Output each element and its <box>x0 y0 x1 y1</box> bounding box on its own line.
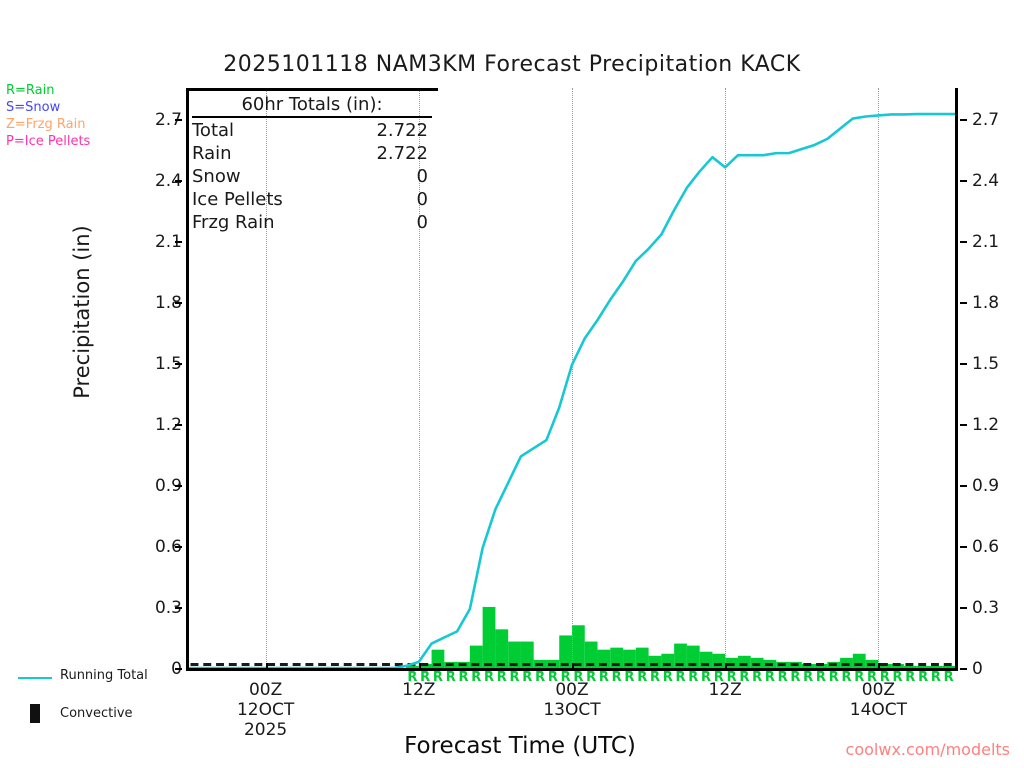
legend-running-total-label: Running Total <box>60 668 148 683</box>
totals-row: Snow0 <box>188 165 438 188</box>
totals-row-label: Ice Pellets <box>192 188 283 211</box>
x-tick-label: 12Z <box>665 680 785 700</box>
y-axis-left: 00.30.60.91.21.51.82.12.42.7 <box>130 88 182 671</box>
totals-row-value: 0 <box>417 165 434 188</box>
y-tick-label-right: 0.3 <box>972 598 1018 618</box>
x-tick-mark <box>725 663 727 671</box>
y-tick-mark-left <box>175 546 182 548</box>
x-tick-label-line: 00Z <box>818 680 938 700</box>
convective-bar-swatch <box>30 704 40 723</box>
y-tick-mark-right <box>960 302 967 304</box>
running-total-line-swatch <box>18 677 52 679</box>
totals-row: Frzg Rain0 <box>188 211 438 234</box>
y-axis-title: Precipitation (in) <box>70 197 94 427</box>
x-tick-label-line: 12OCT <box>206 700 326 720</box>
y-tick-label-right: 1.8 <box>972 293 1018 313</box>
x-axis-ticks <box>189 663 955 673</box>
totals-heading: 60hr Totals (in): <box>192 94 432 118</box>
x-tick-label: 00Z12OCT2025 <box>206 680 326 740</box>
y-tick-label-right: 2.1 <box>972 232 1018 252</box>
gridline <box>725 88 726 668</box>
hourly-precip-bar <box>483 607 496 668</box>
y-tick-mark-left <box>175 607 182 609</box>
totals-row-label: Rain <box>192 142 232 165</box>
totals-row: Rain2.722 <box>188 142 438 165</box>
x-tick-mark <box>266 663 268 671</box>
x-tick-label-line: 00Z <box>206 680 326 700</box>
x-tick-mark <box>419 663 421 671</box>
totals-rows: Total2.722Rain2.722Snow0Ice Pellets0Frzg… <box>188 119 438 234</box>
x-tick-mark <box>572 663 574 671</box>
y-tick-mark-right <box>960 607 967 609</box>
y-tick-mark-left <box>175 485 182 487</box>
gridline <box>878 88 879 668</box>
y-tick-mark-right <box>960 363 967 365</box>
x-tick-label-line: 13OCT <box>512 700 632 720</box>
y-tick-mark-right <box>960 424 967 426</box>
totals-row-label: Frzg Rain <box>192 211 275 234</box>
hourly-precip-bars <box>406 607 955 668</box>
y-tick-mark-left <box>175 424 182 426</box>
x-tick-label: 12Z <box>359 680 479 700</box>
x-tick-label: 00Z13OCT <box>512 680 632 720</box>
y-tick-label-right: 2.7 <box>972 110 1018 130</box>
totals-row-value: 2.722 <box>376 119 434 142</box>
y-tick-label-right: 1.2 <box>972 415 1018 435</box>
y-tick-mark-left <box>175 241 182 243</box>
x-tick-label-line: 12Z <box>665 680 785 700</box>
y-tick-label-right: 0.9 <box>972 476 1018 496</box>
page-title: 2025101118 NAM3KM Forecast Precipitation… <box>0 52 1024 77</box>
watermark: coolwx.com/modelts <box>0 740 1010 759</box>
totals-row: Total2.722 <box>188 119 438 142</box>
x-axis-labels: 00Z12OCT202512Z00Z13OCT12Z00Z14OCT <box>189 680 955 740</box>
totals-row-label: Total <box>192 119 234 142</box>
y-tick-mark-right <box>960 241 967 243</box>
y-tick-mark-left <box>175 302 182 304</box>
y-tick-label-right: 0 <box>972 659 1018 679</box>
totals-row-value: 0 <box>417 211 434 234</box>
y-tick-mark-left <box>175 180 182 182</box>
totals-row-value: 0 <box>417 188 434 211</box>
y-tick-mark-right <box>960 485 967 487</box>
x-tick-mark <box>878 663 880 671</box>
y-tick-mark-left <box>175 119 182 121</box>
y-tick-mark-right <box>960 546 967 548</box>
gridline <box>572 88 573 668</box>
y-tick-label-right: 1.5 <box>972 354 1018 374</box>
x-tick-label-line: 12Z <box>359 680 479 700</box>
chart-page: 2025101118 NAM3KM Forecast Precipitation… <box>0 0 1024 768</box>
y-tick-mark-right <box>960 180 967 182</box>
y-tick-mark-right <box>960 668 967 670</box>
hourly-precip-bar <box>572 625 585 668</box>
y-tick-mark-left <box>175 363 182 365</box>
legend-running-total: Running Total <box>8 668 188 688</box>
totals-box: 60hr Totals (in): Total2.722Rain2.722Sno… <box>188 90 438 234</box>
y-tick-label-right: 0.6 <box>972 537 1018 557</box>
y-axis-right: 00.30.60.91.21.51.82.12.42.7 <box>960 88 1014 671</box>
y-tick-label-right: 2.4 <box>972 171 1018 191</box>
y-tick-mark-right <box>960 119 967 121</box>
totals-row: Ice Pellets0 <box>188 188 438 211</box>
totals-row-value: 2.722 <box>376 142 434 165</box>
legend-convective-label: Convective <box>60 706 133 721</box>
totals-row-label: Snow <box>192 165 241 188</box>
x-tick-label-line: 14OCT <box>818 700 938 720</box>
x-tick-label: 00Z14OCT <box>818 680 938 720</box>
legend-convective: Convective <box>8 703 188 725</box>
x-tick-label-line: 00Z <box>512 680 632 700</box>
